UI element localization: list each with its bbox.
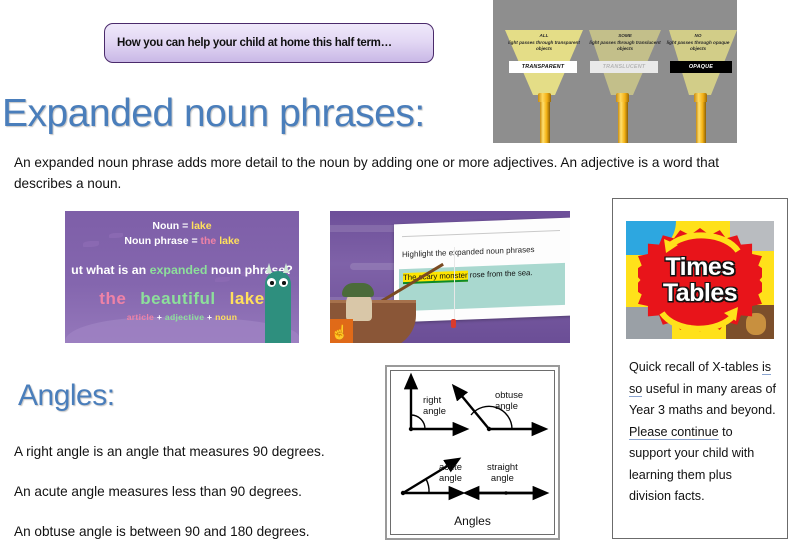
beam-text-1: ALL light passes through transparent obj…	[505, 33, 583, 53]
banner-text: How you can help your child at home this…	[105, 37, 392, 49]
angles-line-3: An obtuse angle is between 90 and 180 de…	[14, 521, 310, 542]
monster-character	[265, 271, 291, 343]
example-adjective: beautiful	[140, 289, 215, 308]
hand-cursor-icon: ☝	[330, 319, 353, 343]
plus-2: +	[207, 312, 212, 322]
purple-line-noun-phrase: Noun phrase = the lake	[65, 235, 299, 247]
question-expanded: expanded	[150, 263, 211, 277]
label-right-line2: angle	[423, 405, 446, 416]
beam-body-1: light passes through transparent objects	[508, 40, 580, 52]
label-straight-line2: angle	[491, 472, 514, 483]
beam-emphasis-3: NO	[695, 33, 702, 38]
fishing-float	[451, 319, 456, 328]
sentence-remainder: rose from the sea.	[468, 268, 533, 279]
whiteboard-rule	[402, 230, 560, 237]
label-acute-line1: acute	[439, 461, 462, 472]
purple-line-tags: article + adjective + noun	[65, 312, 299, 322]
page-title-noun-phrases: Expanded noun phrases:	[2, 92, 425, 136]
noun-word-2: lake	[219, 235, 239, 247]
label-transparent: TRANSPARENT	[509, 61, 577, 73]
logo-line-1: Times	[665, 253, 734, 281]
tag-adjective: adjective	[165, 312, 204, 322]
label-acute-line2: angle	[439, 472, 462, 483]
tt-text-part-2: useful in many areas of Year 3 maths and…	[629, 382, 776, 418]
label-obtuse-line1: obtuse	[495, 389, 523, 400]
times-tables-box: Times Tables Quick recall of X-tables is…	[612, 198, 788, 539]
beam-emphasis-1: ALL	[540, 33, 549, 38]
fishing-line	[454, 247, 455, 321]
torch-2	[616, 93, 629, 143]
label-right-line1: right	[423, 394, 441, 405]
highlight-activity-image: Highlight the expanded noun phrases The …	[330, 211, 570, 343]
tt-text-part-1: Quick recall of X-tables	[629, 360, 762, 374]
page-title-angles: Angles:	[18, 379, 115, 413]
label-obtuse-angle: obtuse angle	[495, 389, 523, 411]
article-word: the	[201, 235, 220, 247]
angles-diagram-caption: Angles	[387, 514, 558, 528]
tag-noun: noun	[215, 312, 237, 322]
example-article: the	[99, 289, 126, 308]
header-banner: How you can help your child at home this…	[104, 23, 434, 63]
whiteboard: Highlight the expanded noun phrases The …	[394, 218, 570, 323]
beam-body-2: light passes through translucent objects	[589, 40, 660, 52]
question-part-1: ut what is an	[71, 263, 149, 277]
angles-diagram-box: right angle obtuse angle acute angle str…	[385, 365, 560, 540]
beam-text-3: NO light passes through opaque objects	[659, 33, 737, 53]
beam-body-3: light passes through opaque objects	[667, 40, 730, 52]
label-straight-angle: straight angle	[487, 461, 518, 483]
plus-1: +	[157, 312, 162, 322]
noun-phrase-definition: An expanded noun phrase adds more detail…	[14, 152, 774, 194]
transparency-light-image: ALL light passes through transparent obj…	[493, 0, 737, 143]
angles-line-2: An acute angle measures less than 90 deg…	[14, 481, 302, 502]
fisherman-hat	[342, 283, 374, 297]
tt-underlined-2: Please continue	[629, 425, 719, 440]
beam-text-2: SOME light passes through translucent ob…	[586, 33, 664, 53]
whiteboard-answer-panel: The scary monster rose from the sea.	[399, 263, 565, 311]
fish-decor	[215, 277, 230, 282]
times-tables-logo-image: Times Tables	[626, 221, 774, 339]
tag-article: article	[127, 312, 154, 322]
whiteboard-question: Highlight the expanded noun phrases	[402, 245, 535, 259]
purple-line-example: thebeautifullake	[65, 289, 299, 309]
purple-line-question: ut what is an expanded noun phrase?	[65, 263, 299, 277]
noun-phrase-slide-image: Noun = lake Noun phrase = the lake ut wh…	[65, 211, 299, 343]
purple-line-noun: Noun = lake	[65, 220, 299, 232]
label-right-angle: right angle	[423, 394, 446, 416]
torch-1	[538, 93, 551, 143]
logo-line-2: Tables	[663, 279, 737, 307]
label-opaque: OPAQUE	[670, 61, 732, 73]
noun-phrase-label: Noun phrase =	[124, 235, 200, 247]
times-tables-paragraph: Quick recall of X-tables is so useful in…	[629, 357, 777, 508]
beam-emphasis-2: SOME	[618, 33, 632, 38]
times-tables-wordmark: Times Tables	[626, 254, 774, 306]
noun-label: Noun =	[152, 220, 191, 232]
noun-word: lake	[191, 220, 211, 232]
label-obtuse-line2: angle	[495, 400, 518, 411]
example-noun: lake	[230, 289, 265, 308]
torch-3	[694, 93, 707, 143]
label-straight-line1: straight	[487, 461, 518, 472]
label-translucent: TRANSLUCENT	[590, 61, 658, 73]
label-acute-angle: acute angle	[439, 461, 462, 483]
angles-line-1: A right angle is an angle that measures …	[14, 441, 325, 462]
